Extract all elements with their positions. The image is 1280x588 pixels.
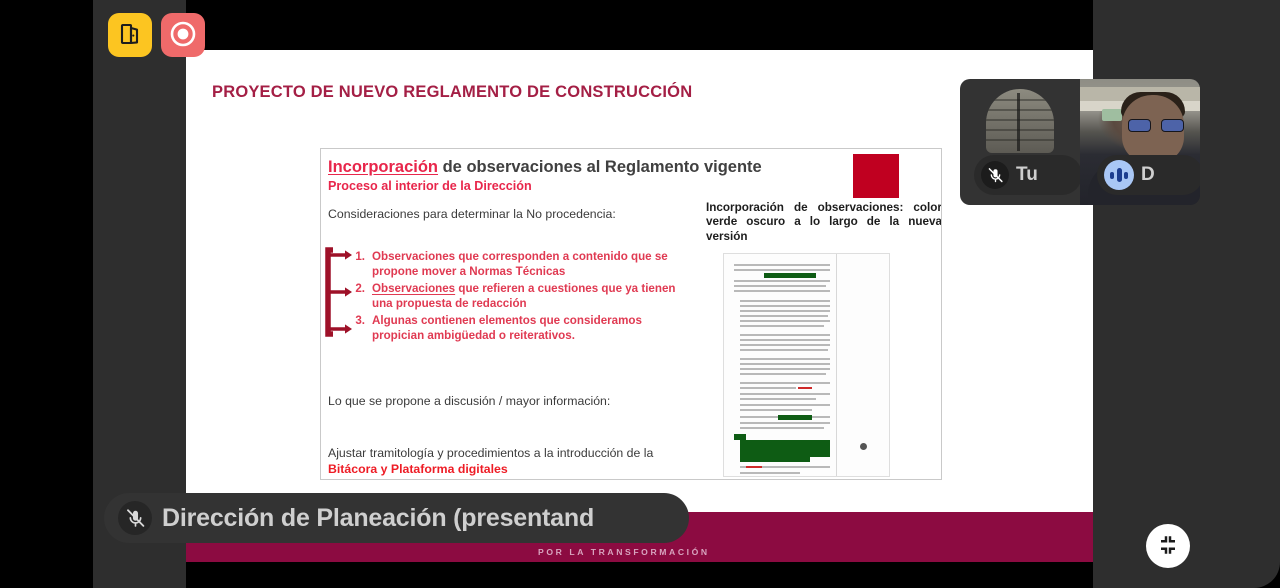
embedded-slide-heading-highlight: Incorporación xyxy=(328,158,438,176)
embedded-slide-lead-text: Consideraciones para determinar la No pr… xyxy=(328,207,618,223)
participant-name-chip-self: Tu xyxy=(974,155,1080,195)
list-item-text: Observaciones que refieren a cuestiones … xyxy=(372,281,688,312)
embedded-slide-right-note: Incorporación de observaciones: color ve… xyxy=(706,201,942,244)
embedded-slide-closing-a: Lo que se propone a discusión / mayor in… xyxy=(328,394,628,410)
meeting-toolbar xyxy=(108,13,205,57)
embedded-slide-closing-b: Ajustar tramitología y procedimientos a … xyxy=(328,446,688,477)
list-item: 3. Algunas contienen elementos que consi… xyxy=(343,313,688,344)
list-item: 1. Observaciones que corresponden a cont… xyxy=(343,249,688,280)
embedded-slide-numbered-list: 1. Observaciones que corresponden a cont… xyxy=(343,249,688,344)
leave-meeting-button[interactable] xyxy=(108,13,152,57)
list-item-text: Observaciones que corresponden a conteni… xyxy=(372,249,688,280)
exit-fullscreen-icon xyxy=(1156,533,1180,560)
participant-tile-self[interactable]: Tu xyxy=(960,79,1080,205)
list-item-index: 1. xyxy=(343,249,372,280)
participant-tiles: Tu D xyxy=(960,79,1200,205)
embedded-slide: Incorporación de observaciones al Reglam… xyxy=(320,148,942,480)
document-page-thumbnail xyxy=(723,253,890,477)
meeting-app-root: PROYECTO DE NUEVO REGLAMENTO DE CONSTRUC… xyxy=(0,0,1280,588)
record-icon xyxy=(170,21,196,50)
exit-fullscreen-button[interactable] xyxy=(1146,524,1190,568)
list-item: 2. Observaciones que refieren a cuestion… xyxy=(343,281,688,312)
active-speaker-pill: Dirección de Planeación (presentand xyxy=(104,493,689,543)
participant-tile-speaker[interactable]: D xyxy=(1080,79,1200,205)
participant-name-self: Tu xyxy=(1016,164,1038,186)
embedded-slide-header: Incorporación de observaciones al Reglam… xyxy=(328,158,848,193)
embedded-slide-heading: Incorporación de observaciones al Reglam… xyxy=(328,158,848,176)
mic-muted-icon xyxy=(118,501,152,535)
list-item-text-underlined: Observaciones xyxy=(372,282,455,295)
participant-name-chip-speaker: D xyxy=(1097,155,1200,195)
active-speaker-icon xyxy=(1104,160,1134,190)
decorative-red-block xyxy=(853,154,899,198)
closing-b-bold: Bitácora y Plataforma digitales xyxy=(328,462,508,476)
list-item-index: 3. xyxy=(343,313,372,344)
avatar xyxy=(986,89,1054,153)
mic-muted-icon xyxy=(981,161,1009,189)
document-signature-stamp xyxy=(860,442,886,452)
closing-b-plain: Ajustar tramitología y procedimientos a … xyxy=(328,446,653,460)
slide-title: PROYECTO DE NUEVO REGLAMENTO DE CONSTRUC… xyxy=(212,83,692,102)
participant-name-speaker: D xyxy=(1141,164,1155,186)
stage-letterbox-top xyxy=(186,0,1093,50)
document-page xyxy=(724,254,889,476)
embedded-slide-heading-rest: de observaciones al Reglamento vigente xyxy=(438,158,762,176)
record-button[interactable] xyxy=(161,13,205,57)
active-speaker-name: Dirección de Planeación (presentand xyxy=(162,504,594,533)
shared-screen-stage[interactable]: PROYECTO DE NUEVO REGLAMENTO DE CONSTRUC… xyxy=(186,50,1093,562)
document-margin-rule xyxy=(836,254,837,476)
list-item-text: Algunas contienen elementos que consider… xyxy=(372,313,688,344)
list-item-index: 2. xyxy=(343,281,372,312)
stage-letterbox-bottom xyxy=(186,562,1093,588)
exit-door-icon xyxy=(118,22,142,49)
organization-tagline: POR LA TRANSFORMACIÓN xyxy=(538,547,710,557)
embedded-slide-subheading: Proceso al interior de la Dirección xyxy=(328,179,848,193)
